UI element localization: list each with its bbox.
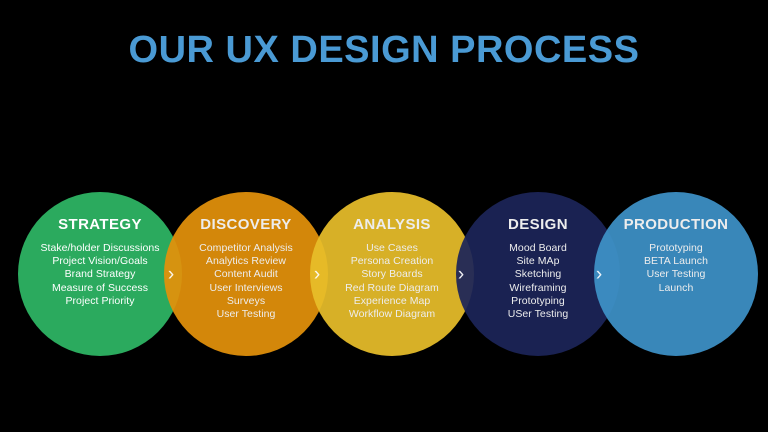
list-item: Persona Creation <box>345 255 439 268</box>
stage-title: DISCOVERY <box>200 216 291 234</box>
process-stage-discovery[interactable]: DISCOVERY Competitor Analysis Analytics … <box>164 192 328 356</box>
ux-process-infographic: OUR UX DESIGN PROCESS STRATEGY Stake/hol… <box>0 0 768 432</box>
list-item: Surveys <box>199 295 293 308</box>
list-item: Wireframing <box>508 282 569 295</box>
list-item: BETA Launch <box>644 255 708 268</box>
list-item: Story Boards <box>345 268 439 281</box>
list-item: Site MAp <box>508 255 569 268</box>
list-item: Prototyping <box>644 242 708 255</box>
list-item: Stake/holder Discussions <box>40 242 159 255</box>
list-item: Red Route Diagram <box>345 282 439 295</box>
list-item: Mood Board <box>508 242 569 255</box>
list-item: Content Audit <box>199 268 293 281</box>
stage-title: ANALYSIS <box>353 216 431 234</box>
stage-item-list: Use Cases Persona Creation Story Boards … <box>339 242 445 321</box>
list-item: Measure of Success <box>40 282 159 295</box>
stage-item-list: Prototyping BETA Launch User Testing Lau… <box>638 242 714 295</box>
stage-item-list: Stake/holder Discussions Project Vision/… <box>34 242 165 308</box>
list-item: User Testing <box>199 308 293 321</box>
list-item: Sketching <box>508 268 569 281</box>
list-item: Launch <box>644 282 708 295</box>
process-stage-analysis[interactable]: ANALYSIS Use Cases Persona Creation Stor… <box>310 192 474 356</box>
list-item: Project Vision/Goals <box>40 255 159 268</box>
list-item: Project Priority <box>40 295 159 308</box>
process-stage-production[interactable]: PRODUCTION Prototyping BETA Launch User … <box>594 192 758 356</box>
list-item: Prototyping <box>508 295 569 308</box>
page-title: OUR UX DESIGN PROCESS <box>0 28 768 73</box>
list-item: Brand Strategy <box>40 268 159 281</box>
stage-title: DESIGN <box>508 216 568 234</box>
stage-title: STRATEGY <box>58 216 142 234</box>
list-item: Use Cases <box>345 242 439 255</box>
list-item: Analytics Review <box>199 255 293 268</box>
list-item: User Interviews <box>199 282 293 295</box>
list-item: Workflow Diagram <box>345 308 439 321</box>
process-stage-strategy[interactable]: STRATEGY Stake/holder Discussions Projec… <box>18 192 182 356</box>
stage-item-list: Mood Board Site MAp Sketching Wireframin… <box>502 242 575 321</box>
list-item: Competitor Analysis <box>199 242 293 255</box>
list-item: User Testing <box>644 268 708 281</box>
stage-title: PRODUCTION <box>624 216 729 234</box>
process-stages: STRATEGY Stake/holder Discussions Projec… <box>0 192 768 356</box>
list-item: Experience Map <box>345 295 439 308</box>
list-item: USer Testing <box>508 308 569 321</box>
stage-item-list: Competitor Analysis Analytics Review Con… <box>193 242 299 321</box>
